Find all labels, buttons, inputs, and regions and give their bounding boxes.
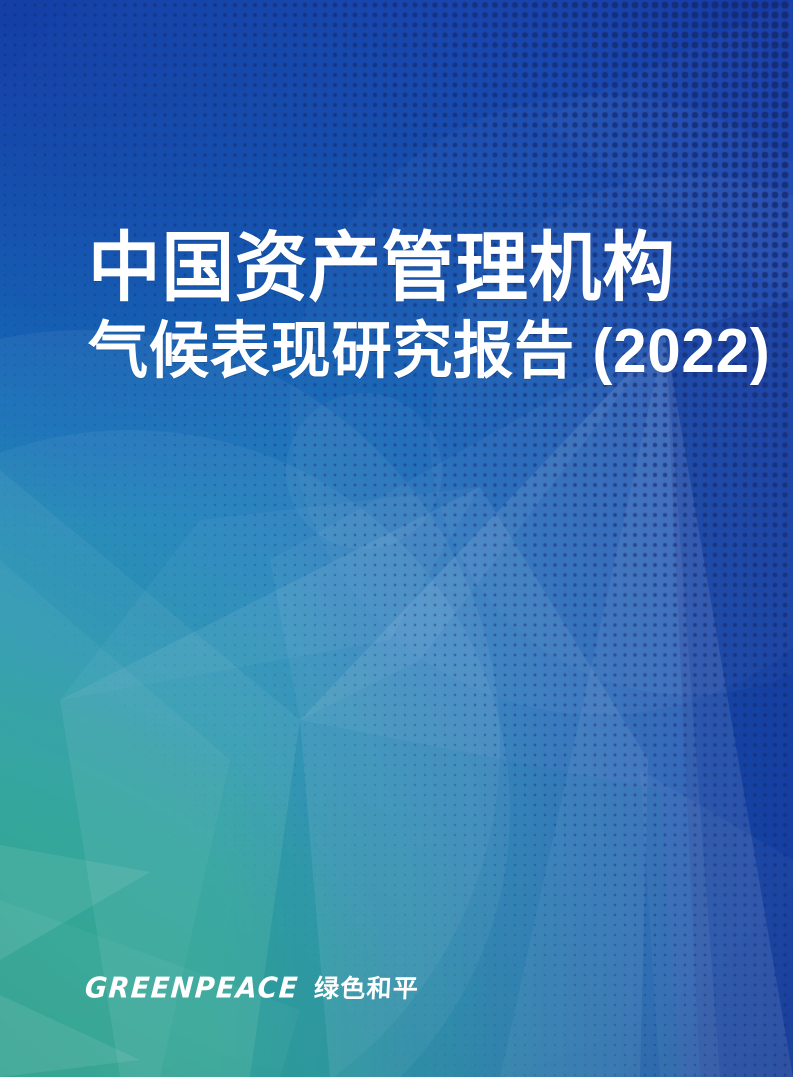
report-cover: 中国资产管理机构 气候表现研究报告 (2022) GREENPEACE 绿色和平	[0, 0, 793, 1077]
vignette-overlay	[0, 0, 793, 1077]
